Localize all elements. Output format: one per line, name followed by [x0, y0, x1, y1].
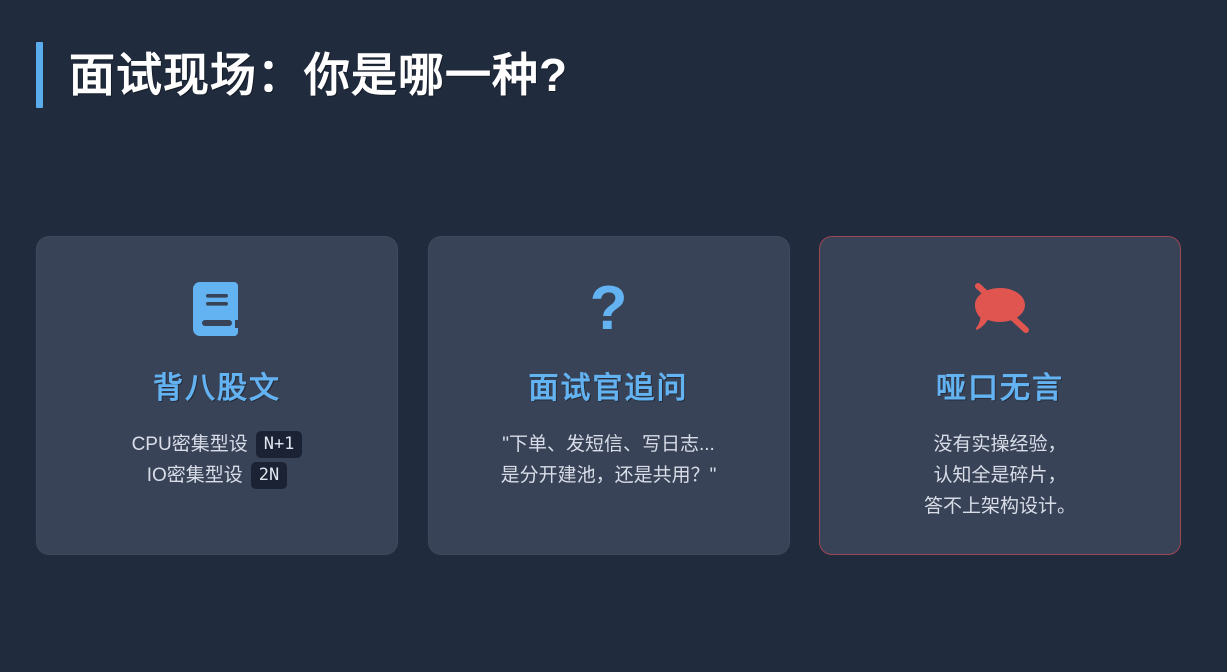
title-accent-bar	[36, 42, 43, 108]
body-line-text: CPU密集型设	[132, 429, 248, 460]
card-interviewer-followup[interactable]: ? 面试官追问 "下单、发短信、写日志... 是分开建池，还是共用？"	[428, 236, 790, 555]
body-line: 没有实操经验，	[924, 429, 1076, 460]
card-title: 面试官追问	[529, 363, 689, 407]
body-line-text: IO密集型设	[147, 460, 243, 491]
body-line: CPU密集型设 N+1	[132, 429, 303, 460]
card-speechless[interactable]: 哑口无言 没有实操经验， 认知全是碎片， 答不上架构设计。	[819, 236, 1181, 555]
body-line: IO密集型设 2N	[132, 460, 303, 491]
card-title: 背八股文	[153, 363, 281, 407]
code-badge: N+1	[256, 431, 303, 458]
slide-header: 面试现场：你是哪一种?	[36, 42, 568, 108]
card-body: 没有实操经验， 认知全是碎片， 答不上架构设计。	[924, 429, 1076, 522]
body-line: 认知全是碎片，	[924, 460, 1076, 491]
card-body: "下单、发短信、写日志... 是分开建池，还是共用？"	[501, 429, 717, 491]
page-title: 面试现场：你是哪一种?	[69, 42, 568, 108]
cards-row: 背八股文 CPU密集型设 N+1 IO密集型设 2N ? 面试官追问 "下单、发…	[36, 236, 1181, 555]
code-badge: 2N	[251, 462, 287, 489]
card-title: 哑口无言	[936, 363, 1064, 407]
question-mark-glyph: ?	[590, 277, 628, 341]
question-mark-icon: ?	[575, 275, 643, 343]
speech-bubble-slash-icon	[966, 275, 1034, 343]
body-line: "下单、发短信、写日志...	[501, 429, 717, 460]
card-body: CPU密集型设 N+1 IO密集型设 2N	[132, 429, 303, 491]
body-line: 是分开建池，还是共用？"	[501, 460, 717, 491]
book-icon	[183, 275, 251, 343]
card-bagu[interactable]: 背八股文 CPU密集型设 N+1 IO密集型设 2N	[36, 236, 398, 555]
body-line: 答不上架构设计。	[924, 491, 1076, 522]
